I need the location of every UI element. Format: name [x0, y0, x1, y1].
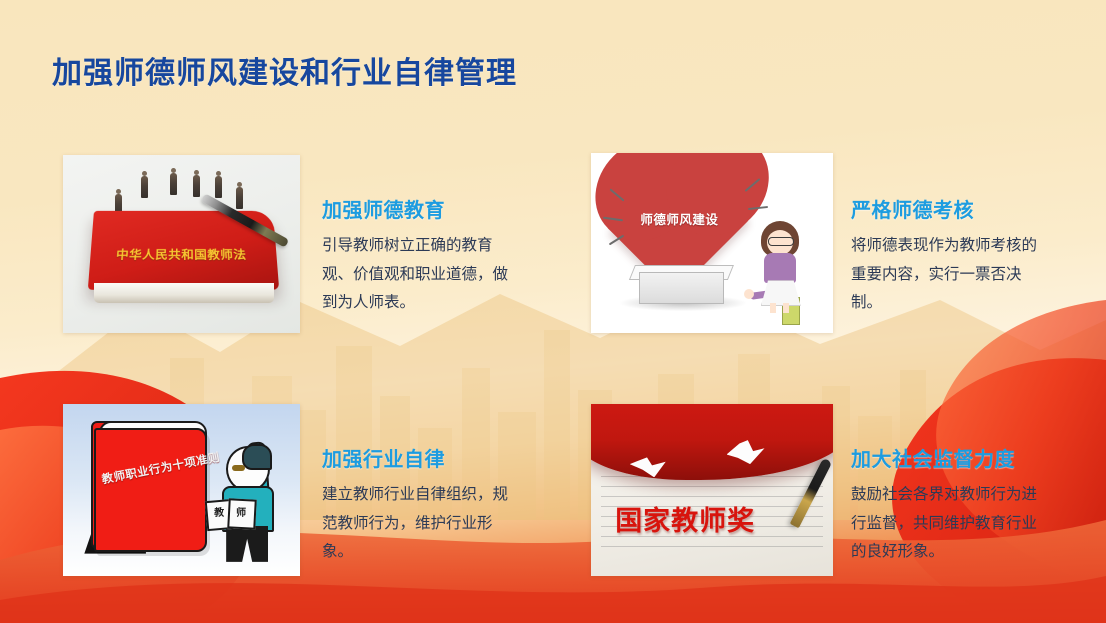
hair [242, 444, 272, 470]
award-title-text: 国家教师奖 [615, 499, 775, 538]
card-2-body: 将师德表现作为教师考核的重要内容，实行一票否决制。 [851, 232, 1041, 318]
card-4-image: 国家教师奖 [591, 404, 833, 576]
teacher-award-photo: 国家教师奖 [591, 404, 833, 576]
card-3-body: 建立教师行业自律组织，规范教师行为，维护行业形象。 [322, 481, 512, 567]
card-1-heading: 加强师德教育 [322, 194, 512, 223]
law-book-photo: 中华人民共和国教师法 [63, 155, 300, 333]
conduct-book-cartoon: 教师职业行为十项准则 教 师 [63, 404, 300, 576]
leg [770, 303, 776, 313]
book-title-text: 中华人民共和国教师法 [95, 245, 268, 263]
card-4-text: 加大社会监督力度 鼓励社会各界对教师行为进行监督，共同维护教育行业的良好形象。 [851, 443, 1056, 567]
figurine-icon [215, 176, 222, 198]
card-3-image: 教师职业行为十项准则 教 师 [63, 404, 300, 576]
card-3-text: 加强行业自律 建立教师行业自律组织，规范教师行为，维护行业形象。 [322, 443, 512, 567]
legs [226, 526, 268, 562]
card-4-body: 鼓励社会各界对教师行为进行监督，共同维护教育行业的良好形象。 [851, 481, 1051, 567]
glasses-icon [768, 237, 794, 246]
id-card-char-1: 教 [214, 504, 224, 519]
skirt [761, 280, 801, 306]
page-title: 加强师德师风建设和行业自律管理 [52, 48, 517, 92]
card-2-image: 师德师风建设 [591, 153, 833, 333]
card-1-text: 加强师德教育 引导教师树立正确的教育观、价值观和职业道德，做到为人师表。 [322, 194, 512, 318]
figurine-icon [236, 187, 243, 209]
leg [783, 303, 789, 313]
figurine-icon [193, 175, 200, 197]
pedestal-box [639, 272, 723, 305]
torso [764, 253, 796, 283]
book-cover [94, 428, 207, 552]
figurine-icon [141, 176, 148, 198]
heart-ballot-illustration: 师德师风建设 [591, 153, 833, 333]
figurine-icon [170, 173, 177, 195]
card-2-text: 严格师德考核 将师德表现作为教师考核的重要内容，实行一票否决制。 [851, 194, 1041, 318]
book-pages [94, 283, 274, 303]
card-1-body: 引导教师树立正确的教育观、价值观和职业道德，做到为人师表。 [322, 232, 512, 318]
card-3-heading: 加强行业自律 [322, 443, 512, 472]
card-4-heading: 加大社会监督力度 [851, 443, 1056, 472]
red-cloth [591, 404, 833, 480]
teacher-character [751, 221, 809, 313]
card-2-heading: 严格师德考核 [851, 194, 1041, 223]
id-card-char-2: 师 [236, 504, 246, 519]
eyebrow [232, 465, 245, 471]
card-1-image: 中华人民共和国教师法 [63, 155, 300, 333]
heart-label-text: 师德师风建设 [630, 209, 729, 228]
presentation-slide: 加强师德师风建设和行业自律管理 中华人民共和国教师法 加强师德教育 引导教师树立… [0, 0, 1106, 623]
saluting-teacher-character: 教 师 [208, 442, 288, 562]
